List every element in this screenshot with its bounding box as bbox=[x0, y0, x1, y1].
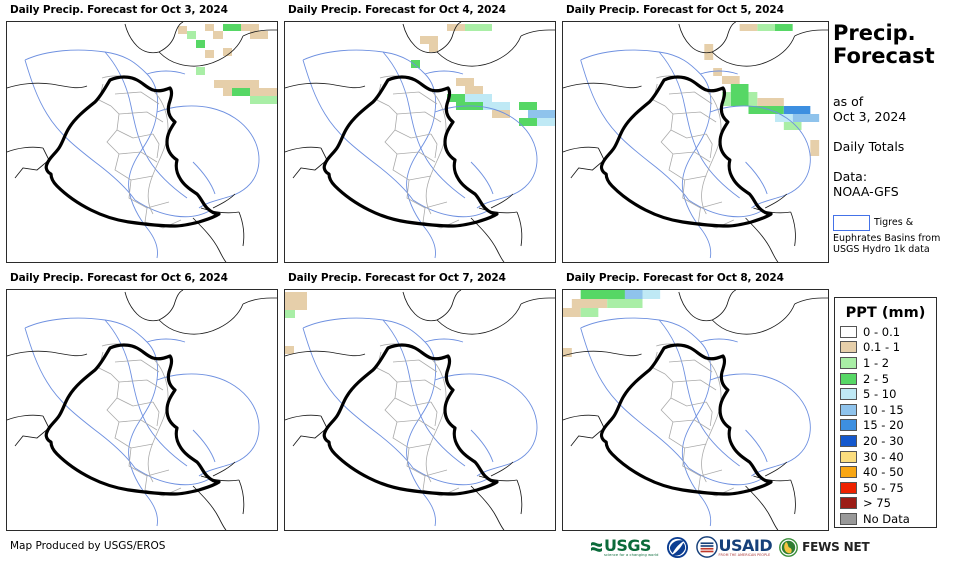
legend-label: > 75 bbox=[863, 497, 891, 509]
usaid-logo[interactable]: USAID FROM THE AMERICAN PEOPLE bbox=[696, 534, 773, 560]
legend-row: No Data bbox=[835, 511, 936, 527]
basin-label-line3: USGS Hydro 1k data bbox=[833, 245, 970, 256]
legend-label: 30 - 40 bbox=[863, 451, 904, 463]
country-outlines bbox=[563, 290, 828, 530]
basin-swatch-icon bbox=[833, 215, 870, 231]
forecast-panel-oct-8: Daily Precip. Forecast for Oct 8, 2024 bbox=[562, 272, 832, 284]
legend-swatch-icon bbox=[840, 482, 857, 494]
map-canvas-oct-8 bbox=[563, 290, 828, 530]
map-canvas-oct-7 bbox=[285, 290, 555, 530]
map-frame-oct-8[interactable] bbox=[562, 289, 829, 531]
noaa-seal-icon bbox=[666, 536, 689, 559]
panel-title-oct-5: Daily Precip. Forecast for Oct 5, 2024 bbox=[562, 4, 832, 16]
basin-legend-key: Tigres & Euphrates Basins from USGS Hydr… bbox=[833, 215, 970, 255]
legend-label: 5 - 10 bbox=[863, 388, 896, 400]
legend-swatch-icon bbox=[840, 435, 857, 447]
legend-row: 2 - 5 bbox=[835, 371, 936, 387]
sidebar-title-line1: Precip. bbox=[833, 22, 970, 45]
legend-row: 40 - 50 bbox=[835, 464, 936, 480]
precip-cells-oct-8 bbox=[563, 290, 660, 357]
usgs-logo-text: USGS bbox=[604, 538, 659, 553]
map-canvas-oct-5 bbox=[563, 22, 828, 262]
forecast-panel-oct-5: Daily Precip. Forecast for Oct 5, 2024 bbox=[562, 4, 832, 16]
map-credit: Map Produced by USGS/EROS bbox=[10, 540, 165, 552]
legend-label: 20 - 30 bbox=[863, 435, 904, 447]
map-canvas-oct-4 bbox=[285, 22, 555, 262]
data-source-block: Data: NOAA-GFS bbox=[833, 169, 970, 199]
legend-label: 40 - 50 bbox=[863, 466, 904, 478]
usgs-logo[interactable]: USGS science for a changing world bbox=[590, 534, 659, 560]
as-of-label: as of bbox=[833, 94, 970, 109]
fews-net-logo[interactable]: FEWS NET bbox=[779, 534, 869, 560]
legend-label: 2 - 5 bbox=[863, 373, 889, 385]
legend-swatch-icon bbox=[840, 466, 857, 478]
map-frame-oct-5[interactable] bbox=[562, 21, 829, 263]
fews-logo-text: FEWS NET bbox=[802, 540, 869, 554]
agency-logos: USGS science for a changing world USAID bbox=[590, 533, 869, 561]
legend-row: 30 - 40 bbox=[835, 449, 936, 465]
country-outlines bbox=[7, 22, 277, 262]
panel-title-oct-8: Daily Precip. Forecast for Oct 8, 2024 bbox=[562, 272, 832, 284]
legend-row: > 75 bbox=[835, 496, 936, 512]
panel-title-oct-3: Daily Precip. Forecast for Oct 3, 2024 bbox=[6, 4, 276, 16]
legend-title: PPT (mm) bbox=[835, 305, 936, 321]
legend-row: 0.1 - 1 bbox=[835, 340, 936, 356]
map-frame-oct-4[interactable] bbox=[284, 21, 556, 263]
country-outlines bbox=[285, 22, 555, 262]
legend-row: 20 - 30 bbox=[835, 433, 936, 449]
legend-rows: 0 - 0.10.1 - 11 - 22 - 55 - 1010 - 1515 … bbox=[835, 324, 936, 527]
map-frame-oct-6[interactable] bbox=[6, 289, 278, 531]
usaid-seal-icon bbox=[696, 536, 718, 558]
ppt-legend: PPT (mm) 0 - 0.10.1 - 11 - 22 - 55 - 101… bbox=[834, 297, 937, 528]
legend-label: 0.1 - 1 bbox=[863, 341, 900, 353]
legend-swatch-icon bbox=[840, 451, 857, 463]
legend-swatch-icon bbox=[840, 357, 857, 369]
basin-label-line2: Euphrates Basins from bbox=[833, 234, 970, 245]
legend-row: 5 - 10 bbox=[835, 386, 936, 402]
usaid-logo-text: USAID bbox=[719, 538, 773, 553]
forecast-panel-oct-4: Daily Precip. Forecast for Oct 4, 2024 bbox=[284, 4, 554, 16]
legend-row: 0 - 0.1 bbox=[835, 324, 936, 340]
legend-label: 15 - 20 bbox=[863, 419, 904, 431]
legend-label: 0 - 0.1 bbox=[863, 326, 900, 338]
legend-label: 1 - 2 bbox=[863, 357, 889, 369]
legend-swatch-icon bbox=[840, 388, 857, 400]
country-outlines bbox=[285, 290, 555, 530]
panel-title-oct-6: Daily Precip. Forecast for Oct 6, 2024 bbox=[6, 272, 276, 284]
usgs-wave-icon bbox=[590, 539, 603, 555]
map-canvas-oct-3 bbox=[7, 22, 277, 262]
usgs-logo-subtext: science for a changing world bbox=[604, 553, 659, 557]
usaid-logo-subtext: FROM THE AMERICAN PEOPLE bbox=[719, 553, 773, 557]
legend-label: 10 - 15 bbox=[863, 404, 904, 416]
forecast-panel-oct-6: Daily Precip. Forecast for Oct 6, 2024 bbox=[6, 272, 276, 284]
map-frame-oct-7[interactable] bbox=[284, 289, 556, 531]
totals-label: Daily Totals bbox=[833, 139, 970, 154]
legend-swatch-icon bbox=[840, 404, 857, 416]
forecast-panel-oct-7: Daily Precip. Forecast for Oct 7, 2024 bbox=[284, 272, 554, 284]
noaa-logo[interactable] bbox=[666, 534, 689, 560]
legend-swatch-icon bbox=[840, 326, 857, 338]
legend-row: 50 - 75 bbox=[835, 480, 936, 496]
legend-swatch-icon bbox=[840, 513, 857, 525]
fews-globe-icon bbox=[779, 538, 798, 557]
legend-label: 50 - 75 bbox=[863, 482, 904, 494]
legend-label: No Data bbox=[863, 513, 910, 525]
precip-forecast-map-page: Daily Precip. Forecast for Oct 3, 2024 bbox=[0, 0, 970, 566]
precip-cells-oct-4 bbox=[411, 24, 555, 126]
legend-swatch-icon bbox=[840, 341, 857, 353]
legend-row: 15 - 20 bbox=[835, 418, 936, 434]
forecast-panel-oct-3: Daily Precip. Forecast for Oct 3, 2024 bbox=[6, 4, 276, 16]
precip-cells-oct-7 bbox=[285, 292, 307, 354]
legend-row: 10 - 15 bbox=[835, 402, 936, 418]
panel-title-oct-7: Daily Precip. Forecast for Oct 7, 2024 bbox=[284, 272, 554, 284]
precip-cells-oct-3 bbox=[178, 24, 277, 104]
map-canvas-oct-6 bbox=[7, 290, 277, 530]
basin-label-line1: Tigres & bbox=[874, 215, 913, 229]
as-of-block: as of Oct 3, 2024 bbox=[833, 94, 970, 124]
as-of-date: Oct 3, 2024 bbox=[833, 109, 970, 124]
map-frame-oct-3[interactable] bbox=[6, 21, 278, 263]
panel-title-oct-4: Daily Precip. Forecast for Oct 4, 2024 bbox=[284, 4, 554, 16]
legend-swatch-icon bbox=[840, 497, 857, 509]
data-label: Data: bbox=[833, 169, 970, 184]
legend-swatch-icon bbox=[840, 419, 857, 431]
country-outlines bbox=[563, 22, 828, 262]
sidebar-title-line2: Forecast bbox=[833, 45, 970, 68]
legend-swatch-icon bbox=[840, 373, 857, 385]
data-source: NOAA-GFS bbox=[833, 184, 970, 199]
legend-row: 1 - 2 bbox=[835, 355, 936, 371]
country-outlines bbox=[7, 290, 277, 530]
